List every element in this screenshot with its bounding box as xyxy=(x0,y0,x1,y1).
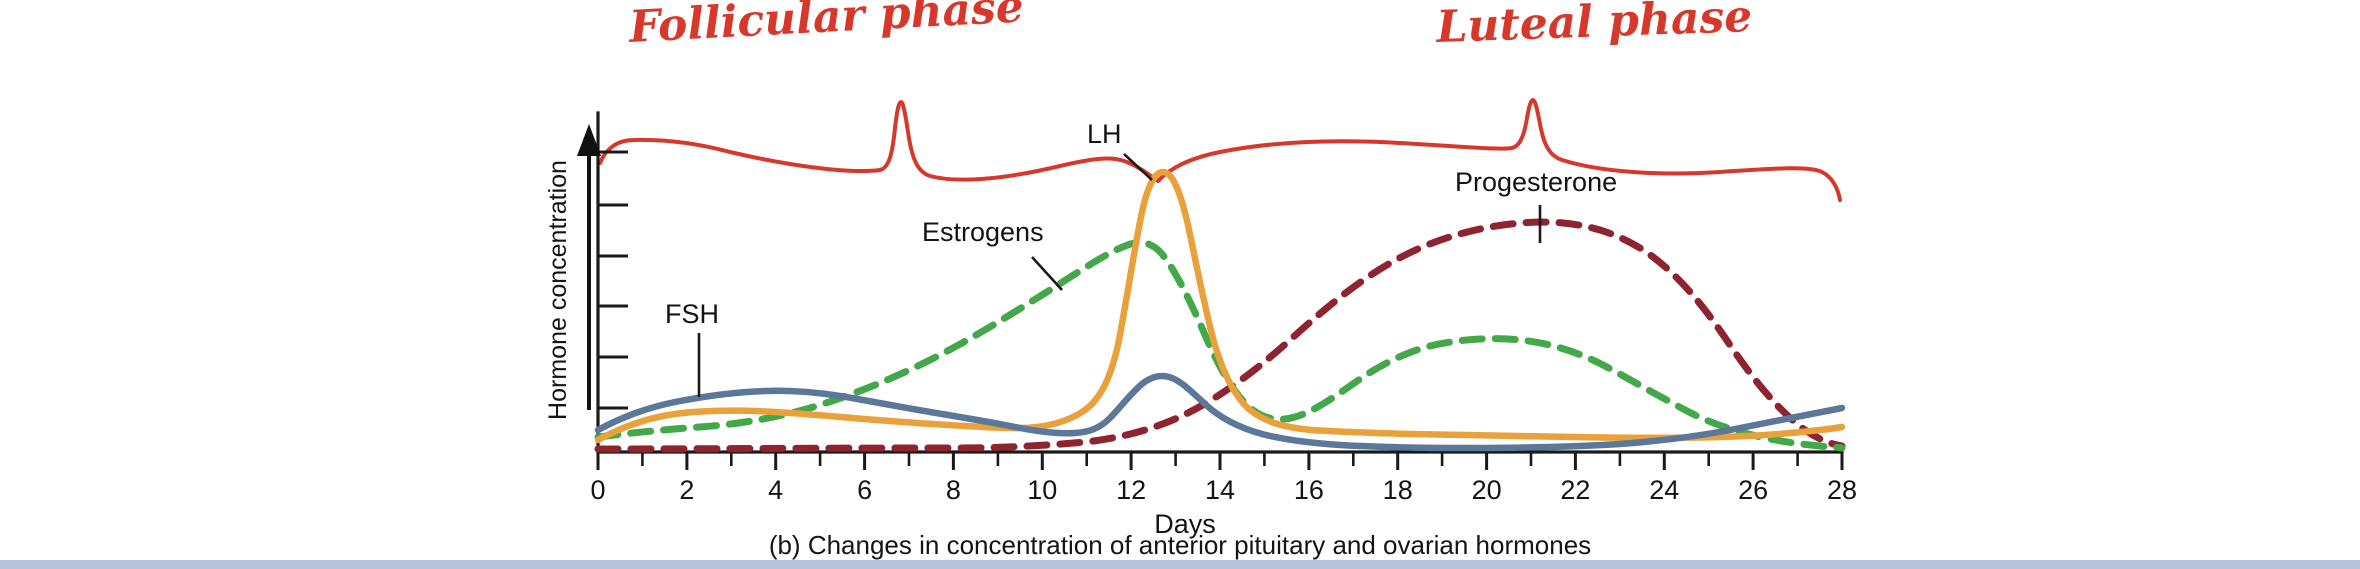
x-tick-label-12: 12 xyxy=(1116,475,1146,505)
x-tick-label-0: 0 xyxy=(590,475,605,505)
series-label-progesterone: Progesterone xyxy=(1455,167,1617,197)
estrogens-leader-line xyxy=(1032,257,1062,290)
y-axis-label: Hormone concentration xyxy=(544,160,572,420)
curve-lh xyxy=(598,172,1842,440)
x-tick-label-28: 28 xyxy=(1827,475,1857,505)
x-tick-label-16: 16 xyxy=(1294,475,1324,505)
x-axis-ticks xyxy=(598,452,1842,470)
x-tick-label-20: 20 xyxy=(1472,475,1502,505)
series-label-lh: LH xyxy=(1087,119,1122,149)
bottom-divider xyxy=(0,560,2360,569)
x-tick-label-6: 6 xyxy=(857,475,872,505)
series-label-fsh: FSH xyxy=(665,299,719,329)
x-tick-label-22: 22 xyxy=(1560,475,1590,505)
x-tick-label-14: 14 xyxy=(1205,475,1235,505)
luteal-phase-text: Luteal phase xyxy=(1434,0,1753,53)
x-tick-label-10: 10 xyxy=(1027,475,1057,505)
figure-panel: Follicular phase Luteal phase Hormone co… xyxy=(0,0,2360,569)
x-tick-label-8: 8 xyxy=(946,475,961,505)
x-tick-label-4: 4 xyxy=(768,475,783,505)
lh-leader-line xyxy=(1124,154,1152,180)
follicular-phase-text: Follicular phase xyxy=(626,0,1025,53)
x-tick-label-26: 26 xyxy=(1738,475,1768,505)
follicular-phase-brace xyxy=(600,102,1156,180)
x-tick-label-24: 24 xyxy=(1649,475,1679,505)
series-label-estrogens: Estrogens xyxy=(922,217,1044,247)
figure-caption: (b) Changes in concentration of anterior… xyxy=(769,530,1591,560)
x-tick-label-18: 18 xyxy=(1383,475,1413,505)
x-tick-label-2: 2 xyxy=(679,475,694,505)
hormone-concentration-chart: Follicular phase Luteal phase Hormone co… xyxy=(0,0,2360,569)
